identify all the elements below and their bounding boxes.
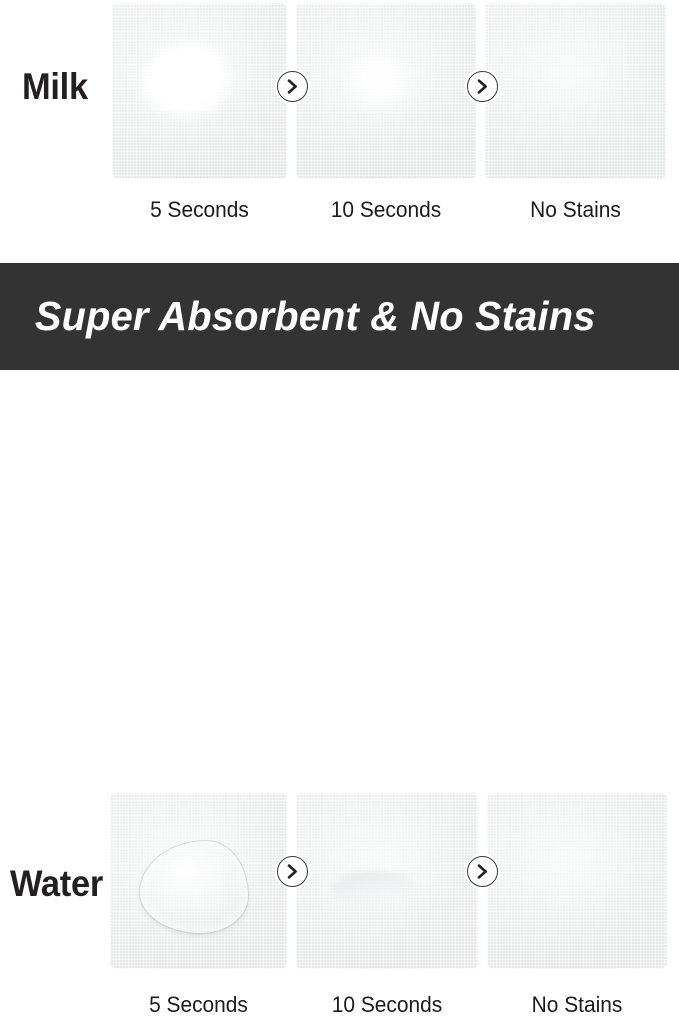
caption-milk-5-seconds: 5 Seconds xyxy=(116,199,282,221)
water-test-row: Water 5 Seconds 10 Seconds No Stains xyxy=(0,390,679,626)
chevron-right-icon xyxy=(467,856,498,887)
banner-title-text: Super Absorbent & No Stains xyxy=(0,296,596,337)
caption-water-10-seconds: 10 Seconds xyxy=(301,994,474,1016)
caption-milk-10-seconds: 10 Seconds xyxy=(301,199,472,221)
caption-water-no-stains: No Stains xyxy=(492,994,663,1016)
row-label-water: Water xyxy=(10,865,103,902)
water-swatch-no-stains xyxy=(487,793,667,969)
water-swatch-10-seconds xyxy=(296,793,478,969)
milk-test-row: Milk 5 Seconds 10 Seconds No Stains xyxy=(0,0,679,260)
milk-swatch-10-seconds xyxy=(296,3,476,179)
headline-banner: Super Absorbent & No Stains xyxy=(0,263,679,370)
water-swatch-5-seconds xyxy=(110,793,287,969)
milk-swatch-5-seconds xyxy=(112,3,287,179)
caption-water-5-seconds: 5 Seconds xyxy=(114,994,282,1016)
chevron-right-icon xyxy=(467,71,498,102)
row-label-milk: Milk xyxy=(22,68,88,105)
chevron-right-icon xyxy=(277,856,308,887)
comparison-infographic: Milk 5 Seconds 10 Seconds No Stains Supe… xyxy=(0,0,679,626)
chevron-right-icon xyxy=(277,71,308,102)
caption-milk-no-stains: No Stains xyxy=(490,199,662,221)
milk-swatch-no-stains xyxy=(485,3,666,179)
